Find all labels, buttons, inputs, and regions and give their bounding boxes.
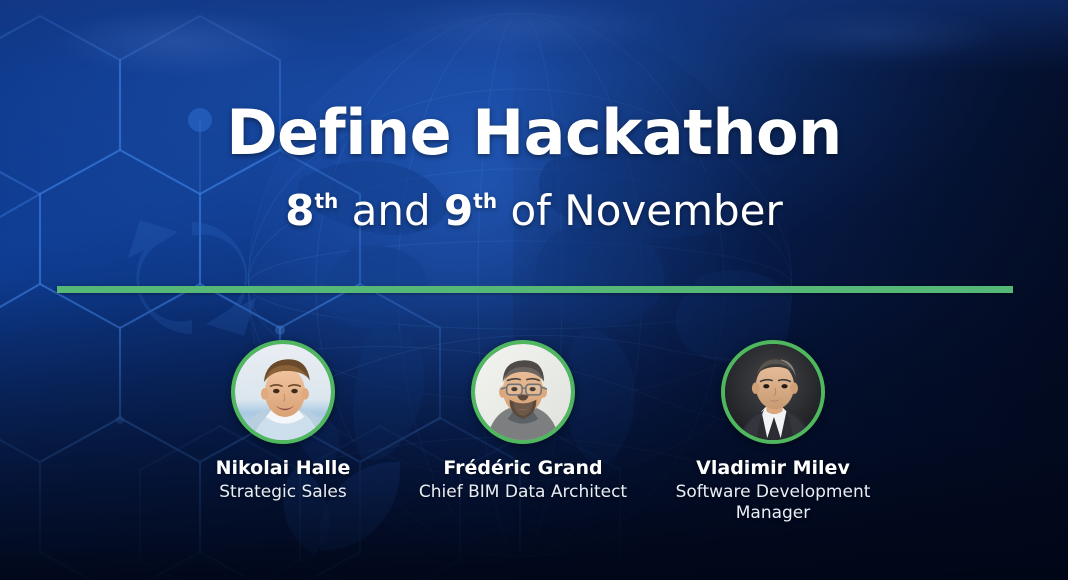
event-date-month: of November xyxy=(510,186,782,235)
speaker-role: Strategic Sales xyxy=(219,482,347,503)
avatar xyxy=(471,340,575,444)
event-date-day1: 8 xyxy=(285,186,314,235)
event-banner: Define Hackathon 8th and 9th of November xyxy=(0,0,1068,580)
event-date-day2: 9 xyxy=(444,186,473,235)
banner-content: Define Hackathon 8th and 9th of November xyxy=(0,0,1068,580)
event-date-conjunction: and xyxy=(352,186,431,235)
speaker-card: Frédéric Grand Chief BIM Data Architect xyxy=(403,340,643,503)
event-date-day2-ordinal: th xyxy=(473,189,497,213)
speaker-name: Nikolai Halle xyxy=(216,458,351,480)
speaker-name: Frédéric Grand xyxy=(443,458,602,480)
event-date-day1-ordinal: th xyxy=(314,189,338,213)
speaker-role: Software Development Manager xyxy=(668,482,878,525)
page-title: Define Hackathon xyxy=(0,96,1068,169)
green-divider xyxy=(57,286,1013,293)
speaker-card: Nikolai Halle Strategic Sales xyxy=(163,340,403,503)
avatar xyxy=(231,340,335,444)
speaker-card: Vladimir Milev Software Development Mana… xyxy=(653,340,893,524)
speaker-name: Vladimir Milev xyxy=(696,458,850,480)
speaker-list: Nikolai Halle Strategic Sales xyxy=(0,340,1068,524)
speaker-role: Chief BIM Data Architect xyxy=(419,482,627,503)
avatar xyxy=(721,340,825,444)
event-date: 8th and 9th of November xyxy=(0,186,1068,235)
